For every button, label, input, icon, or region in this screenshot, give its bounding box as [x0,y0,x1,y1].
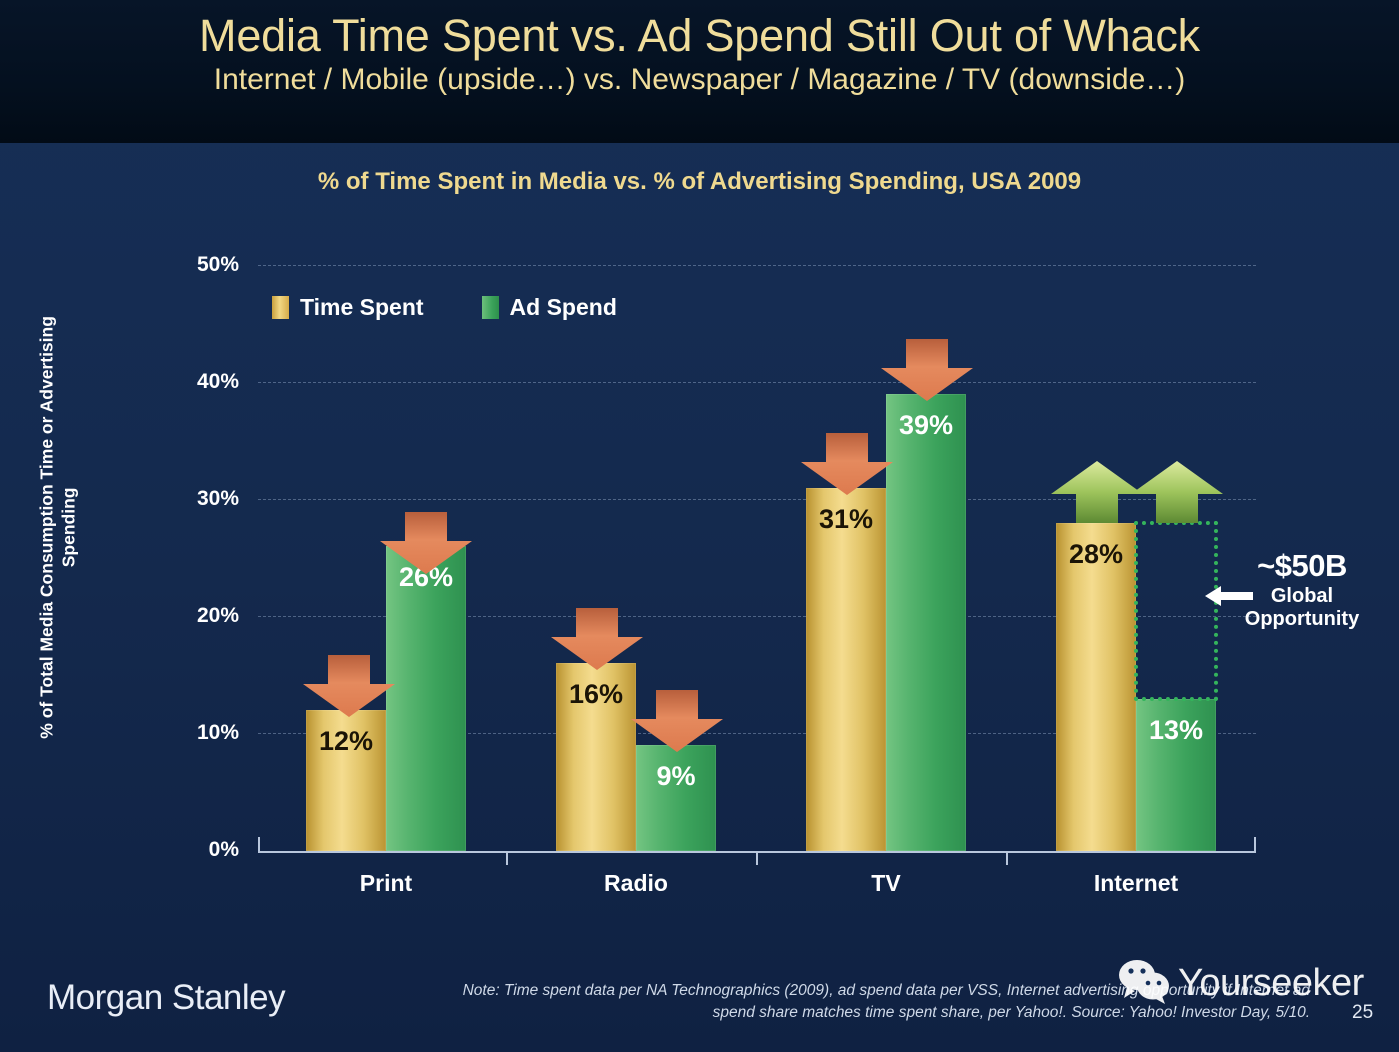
bar-print-ad-spend[interactable]: 26% [386,546,466,851]
up-arrow-icon-internet-ad-spend [1131,461,1223,523]
x-axis-tick-2 [756,851,758,865]
bar-internet-ad-spend[interactable]: 13% [1136,699,1216,851]
bar-value-radio-time-spent: 16% [556,679,636,710]
down-arrow-icon-radio-ad-spend [631,690,723,752]
bar-value-internet-ad-spend: 13% [1136,715,1216,746]
y-axis-title: % of Total Media Consumption Time or Adv… [36,297,81,757]
category-label-radio: Radio [526,870,746,897]
down-arrow-icon-radio-time-spent [551,608,643,670]
callout-line-2: Opportunity [1212,608,1392,632]
legend-item-time-spent[interactable]: Time Spent [272,294,424,321]
bar-value-print-time-spent: 12% [306,726,386,757]
up-arrow-icon-internet-time-spent [1051,461,1143,523]
down-arrow-icon-print-ad-spend [380,512,472,574]
category-label-print: Print [276,870,496,897]
y-tick-label-0: 0% [149,838,239,862]
bar-radio-ad-spend[interactable]: 9% [636,745,716,851]
watermark: Yourseeker [1118,958,1364,1009]
down-arrow-icon-tv-time-spent [801,433,893,495]
bar-tv-time-spent[interactable]: 31% [806,488,886,851]
bar-tv-ad-spend[interactable]: 39% [886,394,966,851]
callout-amount: ~$50B [1212,548,1392,585]
y-tick-label-50: 50% [149,253,239,277]
legend-swatch-ad-spend-icon [482,296,499,319]
opportunity-callout: ~$50B Global Opportunity [1212,548,1392,632]
bar-value-internet-time-spent: 28% [1056,539,1136,570]
y-tick-label-30: 30% [149,487,239,511]
category-label-internet: Internet [1026,870,1246,897]
legend-item-ad-spend[interactable]: Ad Spend [482,294,617,321]
chart-title: % of Time Spent in Media vs. % of Advert… [0,168,1399,196]
slide-title: Media Time Spent vs. Ad Spend Still Out … [0,0,1399,59]
slide-subtitle: Internet / Mobile (upside…) vs. Newspape… [0,59,1399,96]
bar-value-tv-ad-spend: 39% [886,410,966,441]
slide-header-band: Media Time Spent vs. Ad Spend Still Out … [0,0,1399,143]
y-tick-label-10: 10% [149,721,239,745]
x-axis-cap-right [1254,837,1256,853]
legend-label-ad-spend: Ad Spend [510,294,617,321]
x-axis-tick-1 [506,851,508,865]
gridline-50 [258,265,1256,266]
bar-print-time-spent[interactable]: 12% [306,710,386,851]
morgan-stanley-logo: Morgan Stanley [47,978,285,1018]
x-axis-cap-left [258,837,260,853]
bar-value-radio-ad-spend: 9% [636,761,716,792]
watermark-text: Yourseeker [1178,962,1364,1005]
chart-legend: Time Spent Ad Spend [272,294,617,321]
bar-radio-time-spent[interactable]: 16% [556,663,636,851]
category-label-tv: TV [776,870,996,897]
legend-label-time-spent: Time Spent [300,294,424,321]
chart-plot-area: 12% 26% Print 16% 9% [258,258,1256,858]
slide-canvas: Media Time Spent vs. Ad Spend Still Out … [0,0,1399,1052]
wechat-icon [1118,958,1172,1009]
bar-value-tv-time-spent: 31% [806,504,886,535]
x-axis-tick-3 [1006,851,1008,865]
down-arrow-icon-tv-ad-spend [881,339,973,401]
bar-internet-time-spent[interactable]: 28% [1056,523,1136,851]
callout-line-1: Global [1212,585,1392,609]
legend-swatch-time-spent-icon [272,296,289,319]
y-tick-label-20: 20% [149,604,239,628]
gridline-40 [258,382,1256,383]
down-arrow-icon-print-time-spent [303,655,395,717]
y-tick-label-40: 40% [149,370,239,394]
